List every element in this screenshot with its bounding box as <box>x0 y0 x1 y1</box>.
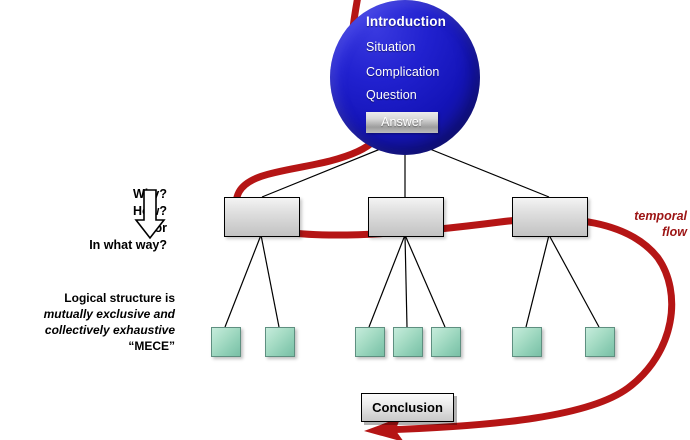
gray-node-3[interactable] <box>512 197 588 237</box>
circle-title: Introduction <box>366 14 446 29</box>
green-leaf-1[interactable] <box>211 327 241 357</box>
conclusion-label: Conclusion <box>362 394 453 421</box>
conclusion-box[interactable]: Conclusion <box>361 393 454 422</box>
connector-gray2-to-green4 <box>405 235 407 327</box>
diagram-canvas: Introduction Situation Complication Ques… <box>0 0 690 440</box>
green-leaf-3[interactable] <box>355 327 385 357</box>
temporal-flow-line-1: temporal <box>617 208 687 224</box>
introduction-circle[interactable]: Introduction Situation Complication Ques… <box>330 0 480 155</box>
down-arrow-icon <box>134 188 166 240</box>
answer-button[interactable]: Answer <box>366 112 438 133</box>
temporal-flow-label: temporal flow <box>617 208 687 240</box>
green-leaf-2[interactable] <box>265 327 295 357</box>
mece-line-3: collectively exhaustive <box>10 322 175 338</box>
circle-line-situation: Situation <box>366 40 416 54</box>
connector-gray3-to-green6 <box>526 235 549 327</box>
mece-line-4: “MECE” <box>10 338 175 354</box>
connector-gray1-to-green1 <box>225 235 261 327</box>
mece-annotation: Logical structure is mutually exclusive … <box>10 290 175 354</box>
connector-gray2-to-green5 <box>405 235 445 327</box>
connector-gray1-to-green2 <box>261 235 279 327</box>
gray-node-1[interactable] <box>224 197 300 237</box>
mece-line-1: Logical structure is <box>10 290 175 306</box>
green-leaf-5[interactable] <box>431 327 461 357</box>
temporal-flow-line-2: flow <box>617 224 687 240</box>
connector-gray3-to-green7 <box>549 235 599 327</box>
gray-to-green-connectors <box>225 235 599 327</box>
gray-node-2[interactable] <box>368 197 444 237</box>
circle-line-question: Question <box>366 88 417 102</box>
green-leaf-6[interactable] <box>512 327 542 357</box>
green-leaf-7[interactable] <box>585 327 615 357</box>
green-leaf-4[interactable] <box>393 327 423 357</box>
connector-gray2-to-green3 <box>369 235 405 327</box>
mece-line-2: mutually exclusive and <box>10 306 175 322</box>
circle-line-complication: Complication <box>366 65 439 79</box>
